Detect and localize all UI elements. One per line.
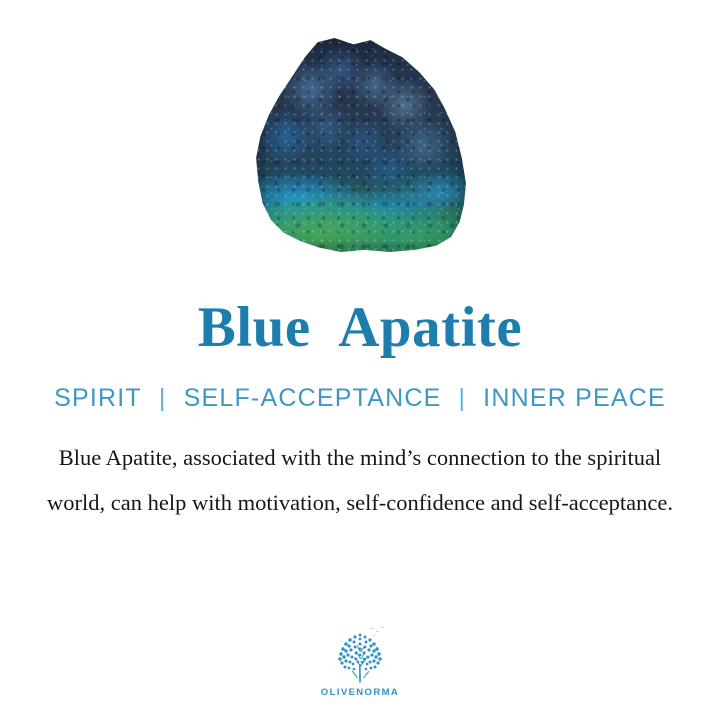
- page-title: Blue Apatite: [198, 299, 522, 356]
- blue-apatite-stone-image: [254, 38, 466, 252]
- keyword-inner-peace: INNER PEACE: [483, 384, 666, 413]
- brand-name: OLIVENORMA: [321, 687, 399, 698]
- keyword-separator: |: [441, 384, 483, 413]
- stone-image-area: [0, 0, 720, 285]
- tree-logo-icon: [327, 626, 393, 684]
- keyword-separator: |: [142, 384, 184, 413]
- product-info-card: Blue Apatite SPIRIT | SELF-ACCEPTANCE | …: [0, 0, 720, 720]
- keyword-spirit: SPIRIT: [54, 384, 142, 413]
- description-text: Blue Apatite, associated with the mind’s…: [35, 435, 685, 525]
- brand-logo: OLIVENORMA: [0, 626, 720, 698]
- keyword-self-acceptance: SELF-ACCEPTANCE: [184, 384, 442, 413]
- keyword-list: SPIRIT | SELF-ACCEPTANCE | INNER PEACE: [54, 384, 666, 413]
